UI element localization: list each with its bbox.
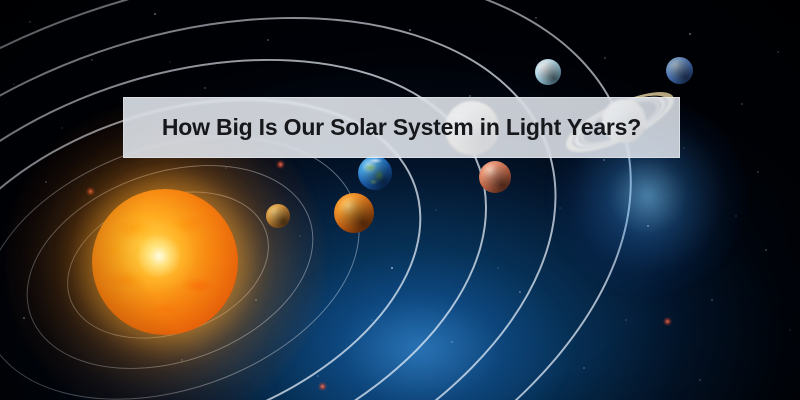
page-title: How Big Is Our Solar System in Light Yea… [162, 114, 641, 141]
solar-system-banner-image: How Big Is Our Solar System in Light Yea… [0, 0, 800, 400]
title-banner: How Big Is Our Solar System in Light Yea… [123, 97, 680, 158]
vignette-overlay [0, 0, 800, 400]
